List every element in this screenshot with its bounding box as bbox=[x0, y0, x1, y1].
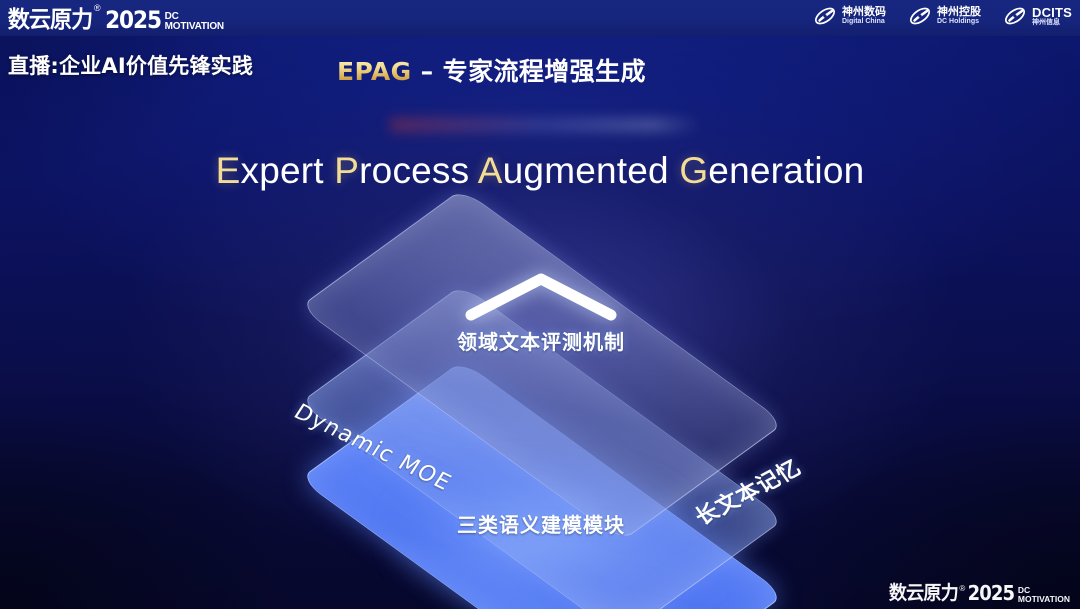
brand-motivation-label: MOTIVATION bbox=[165, 22, 224, 32]
chevron-up-icon bbox=[461, 269, 621, 325]
swirl-logo-icon bbox=[908, 4, 932, 28]
swirl-logo-icon bbox=[813, 4, 837, 28]
partner-logo-text: 神州控股 DC Holdings bbox=[937, 7, 981, 26]
partner-logo-dcits: DCITS 神州信息 bbox=[1003, 4, 1072, 28]
watermark-logo-bottom-right: 数云原力 ® 2025 DC MOTIVATION bbox=[887, 583, 1071, 603]
brand-dc-motivation: DC MOTIVATION bbox=[165, 12, 224, 32]
partner-logo-group: 神州数码 Digital China 神州控股 DC Holdings bbox=[813, 4, 1072, 28]
subtitle-part: eneration bbox=[708, 150, 864, 191]
partner-logo-text: DCITS 神州信息 bbox=[1032, 6, 1072, 27]
partner-name-en: DC Holdings bbox=[937, 18, 981, 25]
swirl-logo-icon bbox=[1003, 4, 1027, 28]
brand-name-cn: 数云原力 bbox=[8, 9, 92, 32]
partner-name-cn: DCITS bbox=[1032, 6, 1072, 20]
subtitle-part: G bbox=[679, 150, 708, 191]
brand-year: 2025 bbox=[105, 8, 161, 32]
slide-canvas: 数云原力 ® 2025 DC MOTIVATION 神州数码 Digital C… bbox=[0, 0, 1080, 609]
slide-title-cn: – 专家流程增强生成 bbox=[412, 57, 646, 86]
subtitle-part: P bbox=[334, 150, 359, 191]
slide-title-abbr: EPAG bbox=[337, 57, 412, 86]
slide-title: EPAG – 专家流程增强生成 bbox=[337, 52, 646, 88]
diagram-layer-top-label: 领域文本评测机制 bbox=[457, 326, 625, 355]
brand-logo-top-left: 数云原力 ® 2025 DC MOTIVATION bbox=[6, 2, 224, 32]
subtitle-part: xpert bbox=[241, 150, 335, 191]
partner-name-en: 神州信息 bbox=[1032, 19, 1072, 26]
subtitle-expanded-acronym: Expert Process Augmented Generation bbox=[0, 150, 1080, 192]
watermark-registered-mark: ® bbox=[959, 583, 965, 595]
brand-registered-mark: ® bbox=[94, 2, 101, 15]
gradient-divider bbox=[394, 121, 694, 128]
subtitle-part: ugmented bbox=[503, 150, 680, 191]
partner-name-cn: 神州数码 bbox=[842, 7, 886, 19]
partner-logo-digital-china: 神州数码 Digital China bbox=[813, 4, 886, 28]
subtitle-part: A bbox=[478, 150, 503, 191]
partner-logo-text: 神州数码 Digital China bbox=[842, 7, 886, 26]
live-stream-title: 直播:企业AI价值先锋实践 bbox=[8, 50, 253, 80]
partner-name-en: Digital China bbox=[842, 18, 886, 25]
watermark-motivation-label: MOTIVATION bbox=[1018, 595, 1070, 604]
subtitle-part: E bbox=[216, 150, 241, 191]
subtitle-part: rocess bbox=[359, 150, 478, 191]
partner-name-cn: 神州控股 bbox=[937, 7, 981, 19]
diagram-layer-bottom-label: 三类语义建模模块 bbox=[457, 509, 625, 538]
partner-logo-dc-holdings: 神州控股 DC Holdings bbox=[908, 4, 981, 28]
watermark-year: 2025 bbox=[968, 583, 1015, 603]
watermark-name-cn: 数云原力 bbox=[888, 584, 957, 603]
watermark-dc-motivation: DC MOTIVATION bbox=[1018, 586, 1070, 603]
layer-stack-diagram: 领域文本评测机制 Dynamic MOE 长文本记忆 三类语义建模模块 bbox=[236, 222, 846, 582]
